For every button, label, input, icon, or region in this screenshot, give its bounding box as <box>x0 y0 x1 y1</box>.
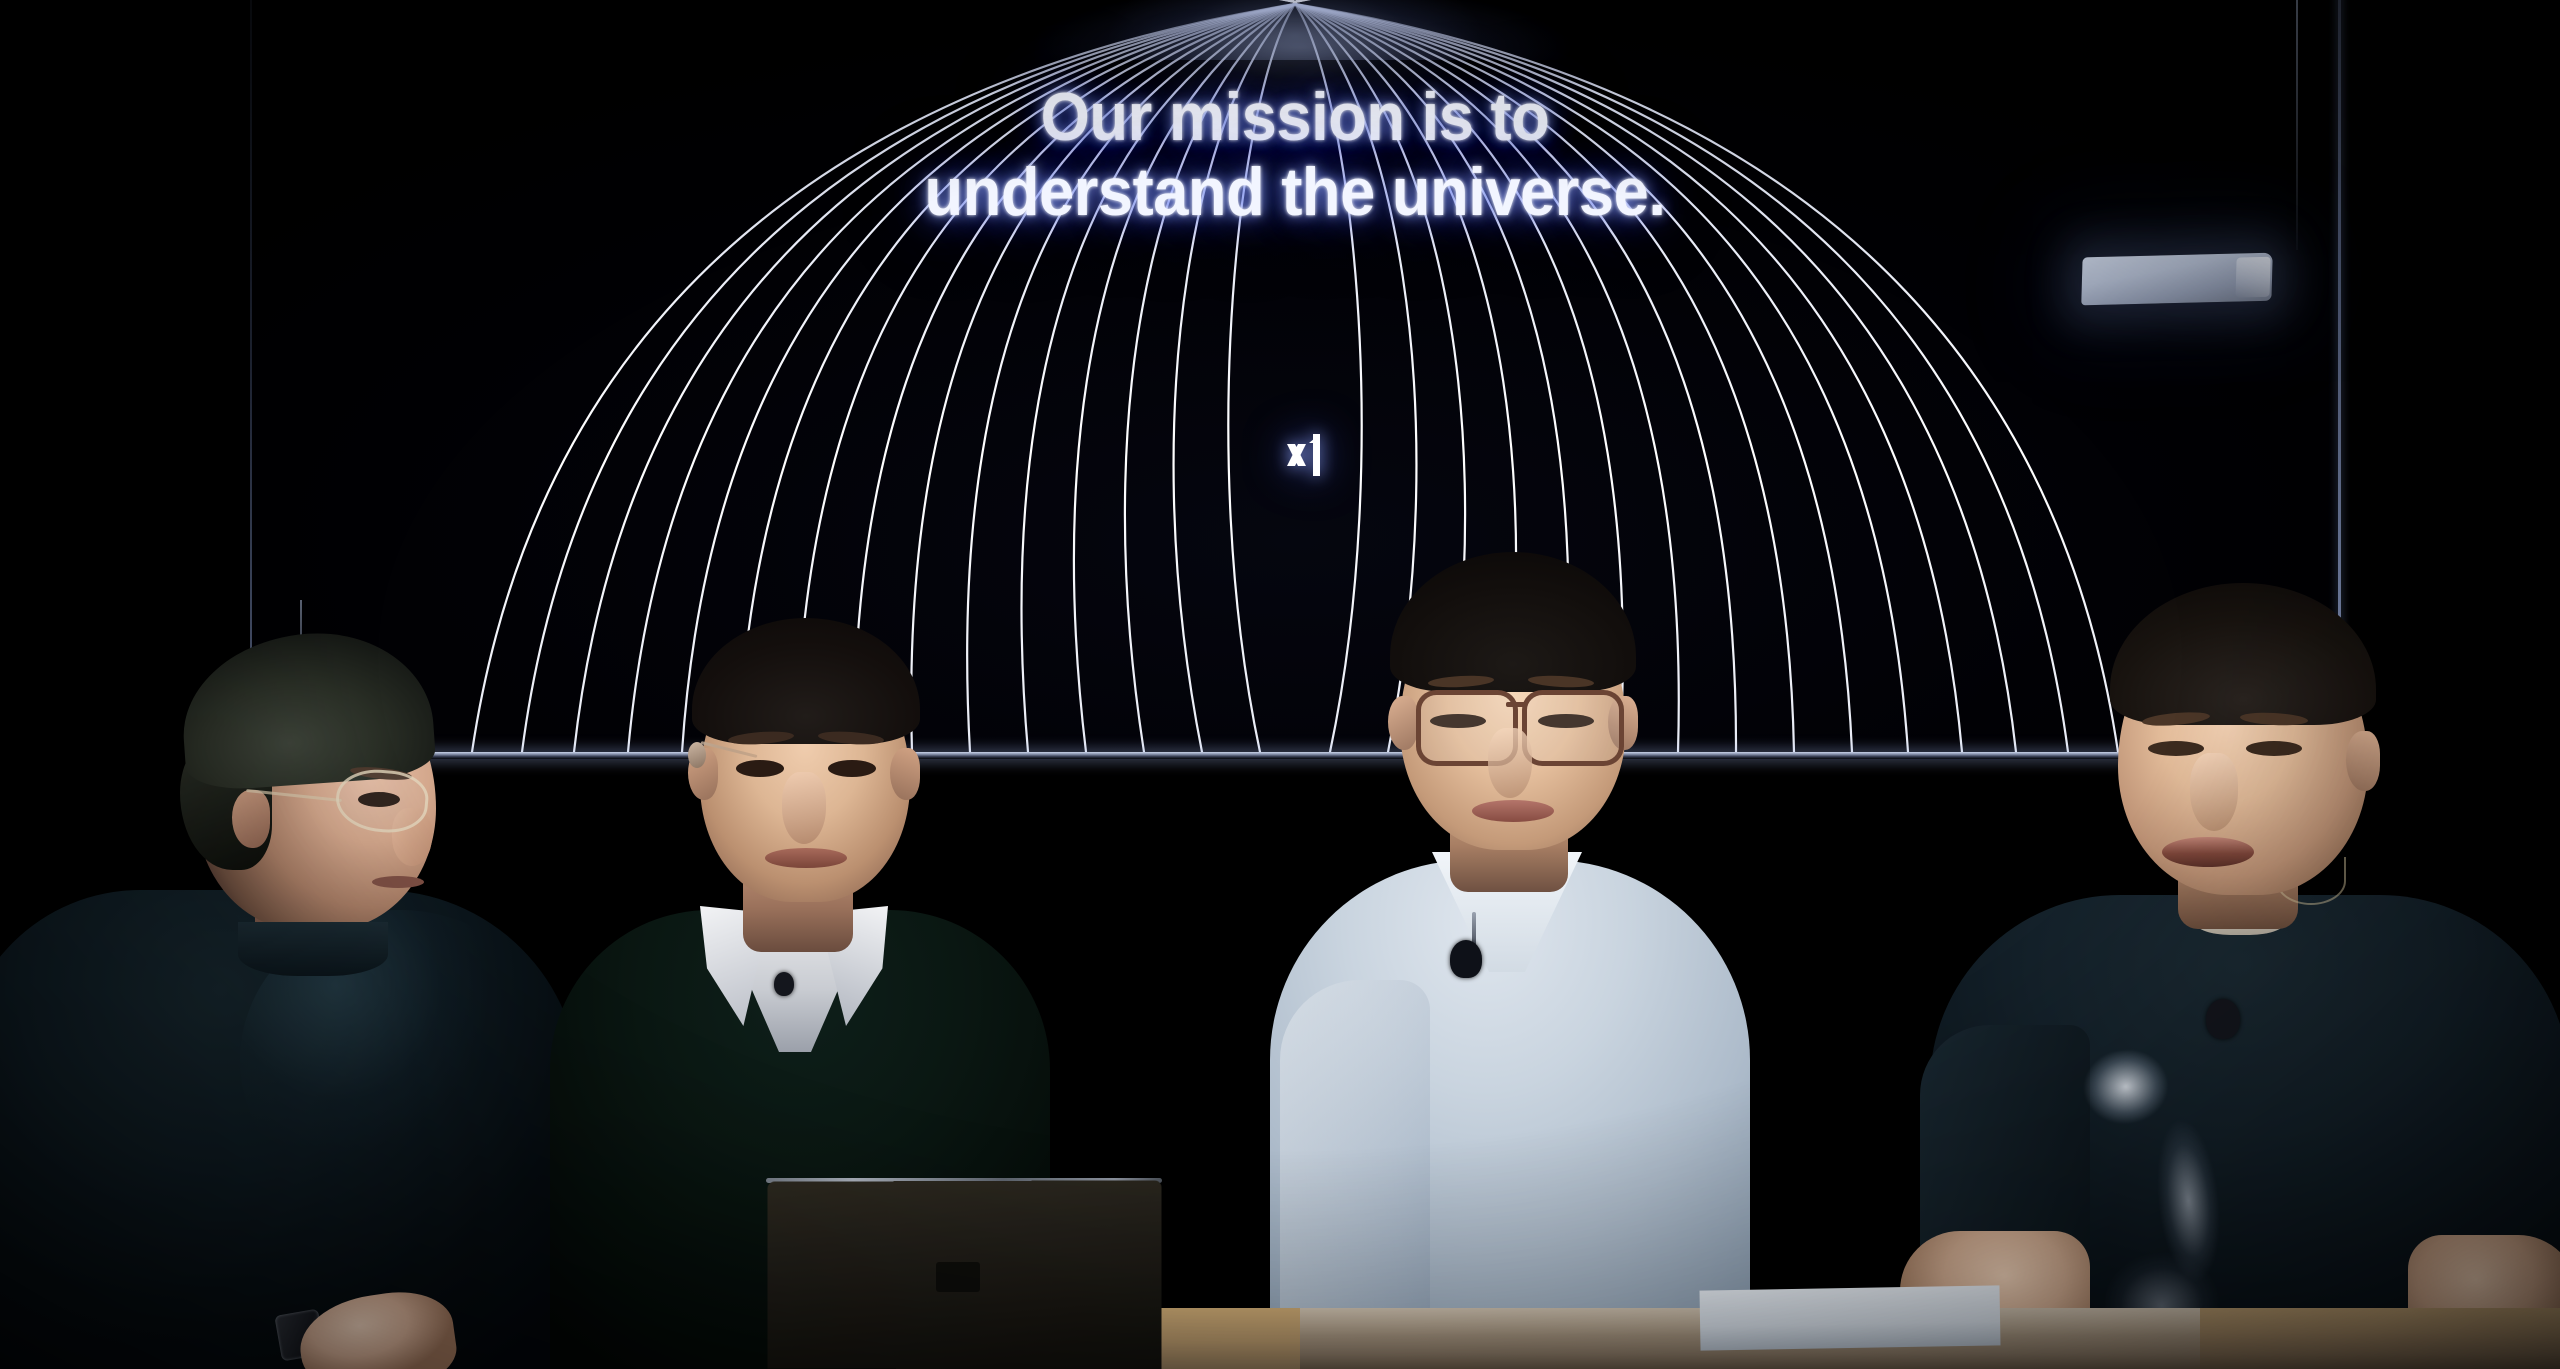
laptop-logo-icon <box>936 1262 980 1292</box>
panelist-2-nose <box>782 772 826 844</box>
panelist-1-collar <box>238 922 388 976</box>
panelist-3-glasses-lens-right <box>1522 690 1624 766</box>
panelist-4 <box>1940 595 2560 1369</box>
panelist-2-hair <box>692 618 920 744</box>
panelist-4-lapel-microphone <box>2206 999 2240 1039</box>
panelist-1-ear <box>232 790 270 848</box>
panelist-4-mouth <box>2162 837 2254 867</box>
paper-document <box>1699 1285 2000 1350</box>
panelist-3-mouth <box>1472 800 1554 822</box>
panelist-2-mouth <box>765 848 847 868</box>
panelist-4-eye-right <box>2246 741 2302 756</box>
panelist-1-mouth <box>372 876 424 888</box>
panelist-4-hair <box>2110 583 2376 725</box>
panelist-1 <box>0 640 620 1369</box>
panelist-2-lapel-microphone <box>774 972 794 996</box>
video-frame: Our mission is to understand the univers… <box>0 0 2560 1369</box>
panelist-3-lapel-microphone <box>1450 940 1482 978</box>
panelist-4-eye-left <box>2148 741 2204 756</box>
panelist-4-ear <box>2346 731 2380 791</box>
panelist-3-hair <box>1390 552 1636 692</box>
panelist-3-ear-left <box>1388 696 1418 750</box>
panelist-3-glasses-bridge <box>1506 702 1526 707</box>
panelists-group <box>0 0 2560 1369</box>
panelist-2-eye-right <box>828 760 876 777</box>
panelist-3 <box>1250 560 1740 1369</box>
panelist-2-earpiece <box>688 742 706 768</box>
panelist-3-nose <box>1488 728 1532 798</box>
panelist-2-eye-left <box>736 760 784 777</box>
panelist-2-ear-right <box>890 748 920 800</box>
panelist-4-nose <box>2190 753 2238 831</box>
panelist-1-hair <box>177 625 437 792</box>
